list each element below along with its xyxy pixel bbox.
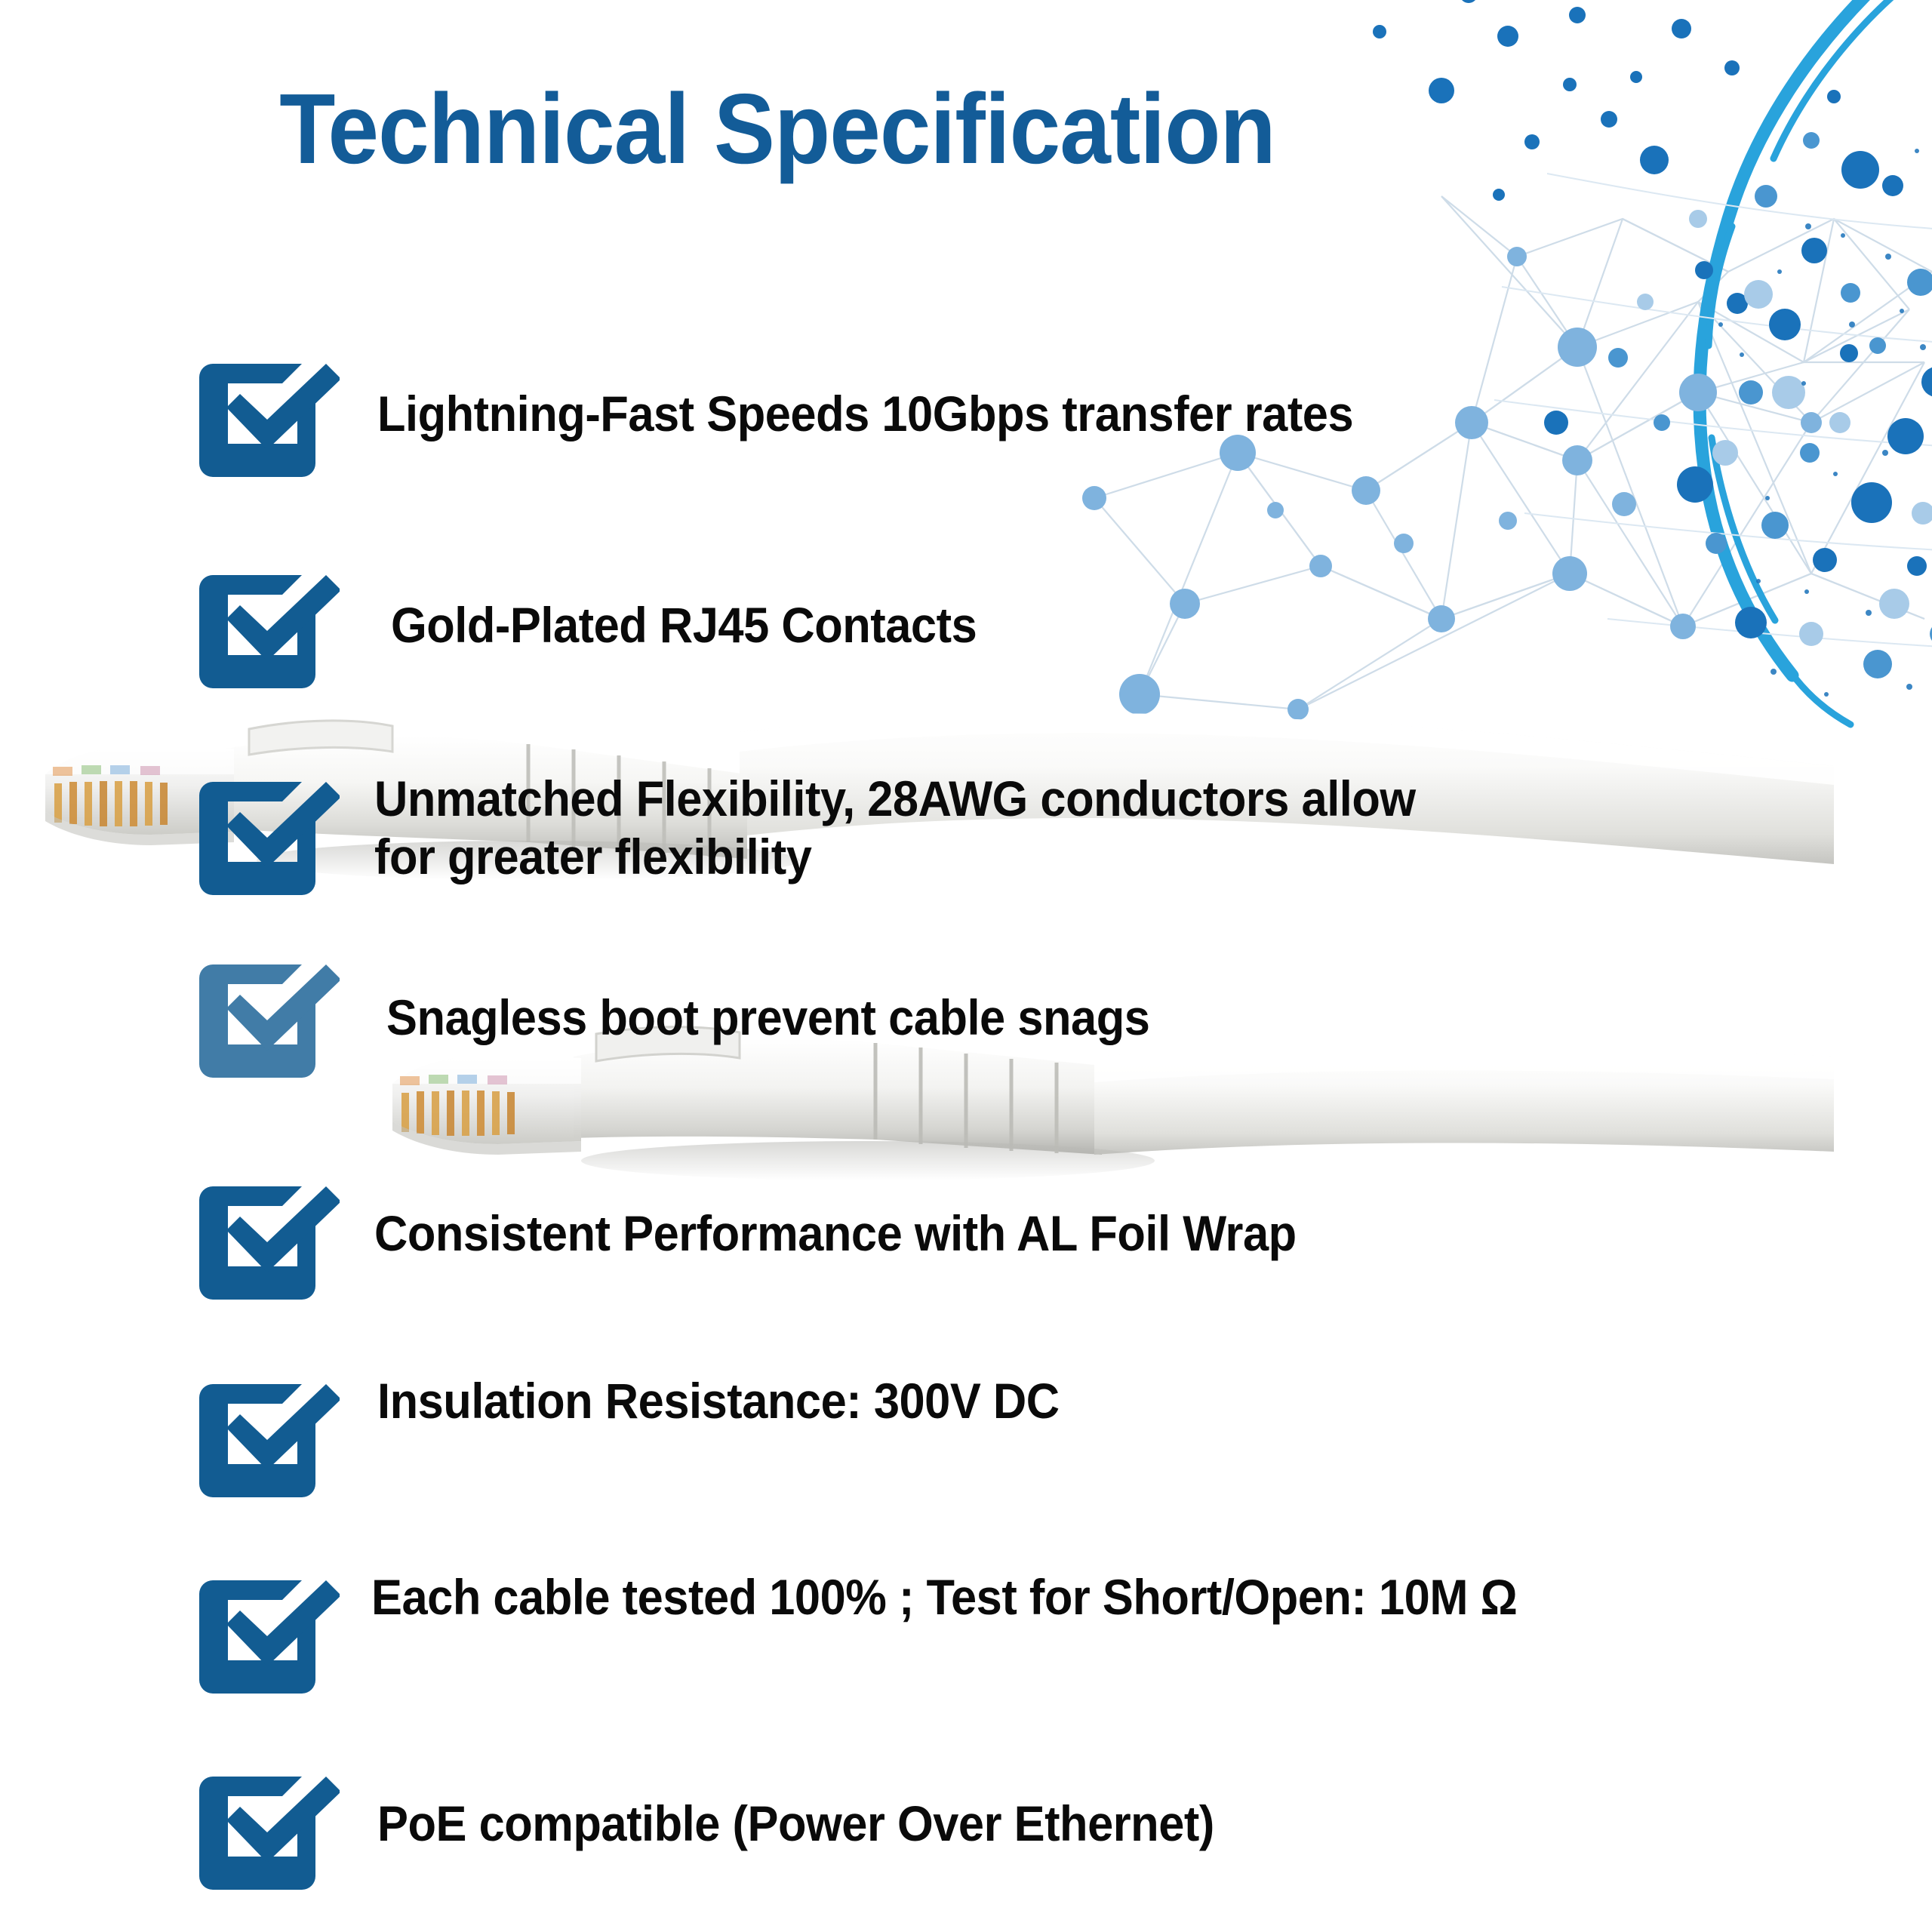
checkbox-checked-icon <box>195 1366 340 1500</box>
list-item-label: PoE compatible (Power Over Ethernet) <box>377 1795 1214 1853</box>
spec-list: Lightning-Fast Speeds 10Gbps transfer ra… <box>0 0 1932 1932</box>
list-item-label: Lightning-Fast Speeds 10Gbps transfer ra… <box>377 385 1353 443</box>
checkbox-checked-icon <box>195 346 340 480</box>
technical-specification-page: Lightning-Fast Speeds 10Gbps transfer ra… <box>0 0 1932 1932</box>
checkbox-checked-icon <box>195 1168 340 1303</box>
checkbox-checked-icon <box>195 1562 340 1697</box>
list-item-label: Consistent Performance with AL Foil Wrap <box>374 1204 1297 1263</box>
checkbox-checked-icon <box>195 946 340 1081</box>
list-item-label: Unmatched Flexibility, 28AWG conductors … <box>374 770 1416 886</box>
list-item-label: Snagless boot prevent cable snags <box>386 989 1149 1047</box>
list-item-label: Insulation Resistance: 300V DC <box>377 1372 1060 1430</box>
page-title: Technical Specification <box>62 72 1492 186</box>
list-item-label: Gold-Plated RJ45 Contacts <box>391 596 977 654</box>
list-item-label: Each cable tested 100% ; Test for Short/… <box>371 1568 1517 1626</box>
checkbox-checked-icon <box>195 1758 340 1893</box>
checkbox-checked-icon <box>195 764 340 898</box>
checkbox-checked-icon <box>195 557 340 691</box>
